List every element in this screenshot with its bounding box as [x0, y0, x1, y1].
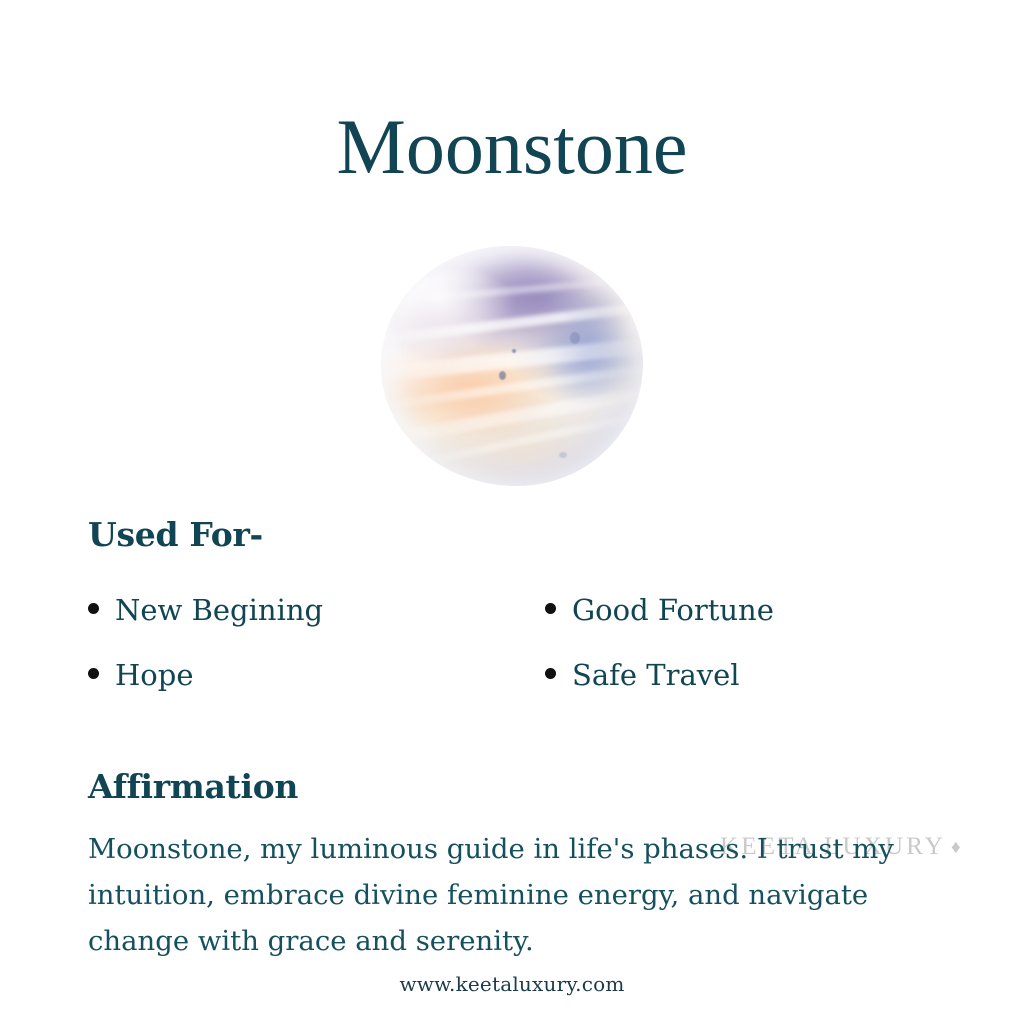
bullet-dot-icon: [545, 603, 556, 614]
list-item-label: Hope: [115, 661, 193, 690]
list-item: New Begining: [88, 596, 508, 661]
moonstone-cabochon-image: [381, 246, 643, 486]
affirmation-heading: Affirmation: [88, 767, 298, 806]
diamond-icon: ♦: [951, 837, 964, 858]
used-for-list: New Begining Hope Good Fortune Safe Trav…: [0, 596, 1024, 726]
stone-inclusion: [570, 332, 580, 344]
list-item-label: Good Fortune: [572, 596, 774, 625]
bullet-dot-icon: [545, 668, 556, 679]
page-title: Moonstone: [0, 108, 1024, 186]
used-for-heading: Used For-: [88, 515, 263, 554]
list-item: Good Fortune: [545, 596, 975, 661]
stone-peach-sheen: [407, 356, 543, 438]
gemstone-image-container: [0, 240, 1024, 492]
stone-inclusion: [559, 452, 567, 458]
stone-inclusion: [499, 371, 506, 380]
footer-website-url: www.keetaluxury.com: [0, 972, 1024, 996]
gemstone-info-card: Moonstone Used For- New Begining: [0, 0, 1024, 1024]
list-item: Safe Travel: [545, 661, 975, 726]
bullet-dot-icon: [88, 668, 99, 679]
stone-inclusion: [512, 349, 516, 353]
used-for-column-left: New Begining Hope: [88, 596, 508, 726]
list-item-label: New Begining: [115, 596, 323, 625]
bullet-dot-icon: [88, 603, 99, 614]
stone-highlight: [397, 270, 518, 361]
stone-blue-sheen: [543, 294, 632, 409]
list-item: Hope: [88, 661, 508, 726]
used-for-column-right: Good Fortune Safe Travel: [545, 596, 975, 726]
list-item-label: Safe Travel: [572, 661, 740, 690]
affirmation-text: Moonstone, my luminous guide in life's p…: [88, 826, 908, 964]
